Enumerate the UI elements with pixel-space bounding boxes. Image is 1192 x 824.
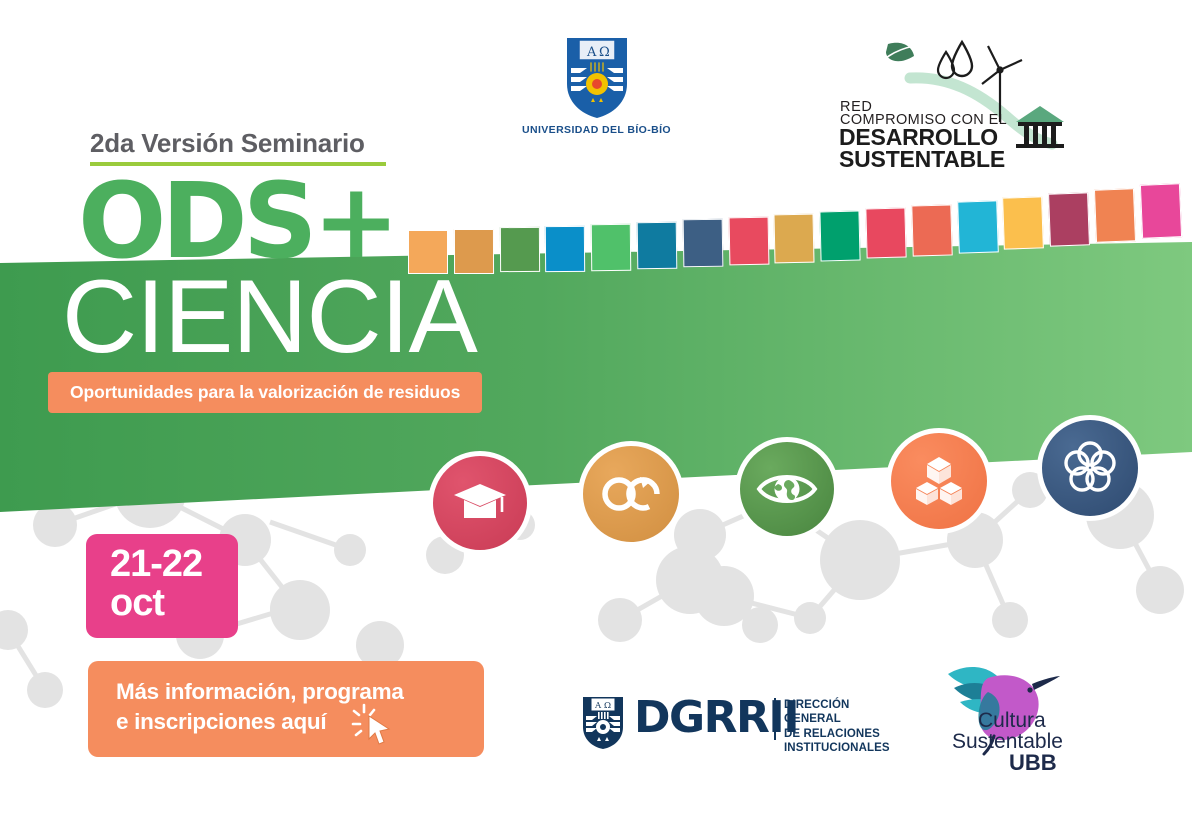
- red-logo-line4: SUSTENTABLE: [839, 147, 1005, 171]
- icon-circle-eye-globe: [735, 437, 839, 541]
- more-info-cta-button[interactable]: Más información, programa e inscripcione…: [88, 661, 484, 757]
- icon-circle-cubes: [886, 428, 992, 534]
- cultura-line3: UBB: [1009, 752, 1057, 774]
- logo-universidad-del-bio-bio: A Ω UNIVERSIDAD DEL B: [519, 36, 674, 144]
- sdg-color-square: [1048, 192, 1090, 246]
- sdg-color-strip: [408, 182, 1192, 264]
- ubb-shield-icon: A Ω: [580, 696, 626, 750]
- logo-cultura-sustentable-ubb: Cultura Sustentable UBB: [930, 648, 1140, 766]
- logo-dgrrii: A Ω DGRRII: [578, 694, 908, 756]
- click-cursor-icon: [350, 701, 396, 747]
- water-drop-icon: [938, 42, 972, 78]
- icon-circle-network-pattern: [1037, 415, 1143, 521]
- title-ciencia: CIENCIA: [62, 268, 477, 367]
- sdg-color-square: [820, 211, 861, 262]
- sdg-color-square: [865, 207, 906, 258]
- svg-text:A: A: [586, 45, 597, 60]
- subtitle-badge: Oportunidades para la valorización de re…: [48, 372, 482, 413]
- ubb-logo-caption: UNIVERSIDAD DEL BÍO-BÍO: [519, 124, 674, 136]
- sdg-color-square: [682, 219, 723, 267]
- ubb-shield-icon: A Ω: [561, 36, 633, 120]
- sdg-color-square: [499, 227, 539, 272]
- logo-red-desarrollo-sustentable: RED COMPROMISO CON EL DESARROLLO SUSTENT…: [828, 30, 1068, 155]
- sdg-color-square: [1094, 188, 1136, 243]
- kicker-label: 2da Versión Seminario: [90, 128, 386, 159]
- sdg-color-square: [957, 200, 999, 253]
- sdg-color-square: [728, 217, 769, 266]
- eye-globe-icon: [756, 468, 818, 510]
- leaf-icon: [886, 43, 914, 61]
- svg-text:Ω: Ω: [604, 701, 611, 711]
- poster-canvas: A Ω UNIVERSIDAD DEL B: [0, 0, 1192, 824]
- sdg-color-square: [1140, 183, 1182, 239]
- dgrrii-subtitle: DIRECCIÓN GENERAL DE RELACIONES INSTITUC…: [784, 698, 908, 756]
- sdg-color-square: [774, 214, 815, 264]
- cubes-icon: [912, 454, 966, 508]
- svg-text:Ω: Ω: [599, 45, 610, 60]
- event-date-badge: 21-22 oct: [86, 534, 238, 638]
- cultura-line1: Cultura: [978, 710, 1046, 731]
- sdg-color-square: [637, 221, 678, 269]
- date-days: 21-22: [110, 545, 238, 584]
- dgrrii-sub-line2: DE RELACIONES: [784, 727, 908, 741]
- icon-circle-circular-economy: [578, 441, 684, 547]
- cultura-line2: Sustentable: [952, 731, 1063, 752]
- circles-pattern-icon: [1060, 438, 1120, 498]
- cta-line2: e inscripciones aquí: [116, 707, 484, 737]
- graduation-cap-icon: [452, 478, 508, 528]
- dgrrii-sub-line1: DIRECCIÓN GENERAL: [784, 698, 908, 727]
- svg-text:A: A: [594, 701, 602, 711]
- dgrrii-divider: [774, 698, 776, 740]
- sdg-color-square: [545, 226, 585, 272]
- title-ods: ODS+: [78, 175, 395, 269]
- icon-circle-graduation: [428, 451, 532, 555]
- subtitle-label: Oportunidades para la valorización de re…: [70, 382, 460, 403]
- date-month: oct: [110, 584, 238, 623]
- sdg-color-square: [591, 224, 631, 271]
- circular-economy-icon: [600, 471, 662, 517]
- sdg-color-square: [1003, 196, 1045, 249]
- sdg-color-square: [911, 204, 952, 256]
- dgrrii-sub-line3: INSTITUCIONALES: [784, 741, 908, 755]
- cta-line1: Más información, programa: [116, 677, 484, 707]
